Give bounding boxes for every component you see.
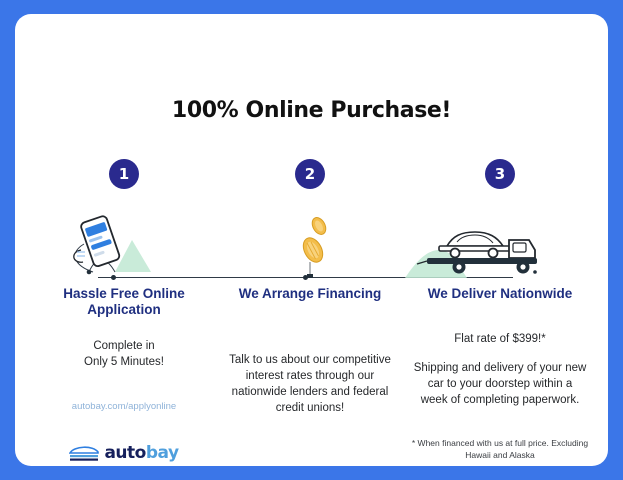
step-body-3-lead: Flat rate of $399!* (413, 331, 587, 347)
step-body-3: Shipping and delivery of your new car to… (413, 360, 587, 408)
step-footnote-3: * When financed with us at full price. E… (407, 437, 593, 461)
autobay-wave-car-icon (69, 444, 99, 462)
autobay-logo: autobay (29, 441, 219, 465)
poster-canvas: 100% Online Purchase! 1 (0, 0, 623, 480)
logo-word-bay: bay (146, 443, 179, 463)
step-heading-3: We Deliver Nationwide (411, 286, 589, 302)
autobay-logo-text: autobay (104, 443, 178, 463)
step-body-1: Complete in Only 5 Minutes! (37, 338, 211, 370)
apply-online-link[interactable]: autobay.com/applyonline (37, 401, 211, 412)
step-heading-2: We Arrange Financing (221, 286, 399, 302)
phone-in-hand-icon (29, 210, 219, 280)
step-number-badge-3: 3 (485, 159, 515, 189)
white-card: 100% Online Purchase! 1 (15, 14, 608, 466)
step-number-badge-1: 1 (109, 159, 139, 189)
step-column-3: 3 (405, 14, 595, 466)
car-carrier-truck-icon (405, 210, 595, 280)
step-number-badge-2: 2 (295, 159, 325, 189)
step-heading-1: Hassle Free Online Application (35, 286, 213, 318)
step-column-2: 2 We Arrange Financing (215, 14, 405, 466)
step-body-2: Talk to us about our competitive interes… (223, 352, 397, 416)
logo-word-auto: auto (104, 443, 145, 463)
falling-coins-icon (215, 210, 405, 280)
step-column-1: 1 Hassl (29, 14, 219, 466)
